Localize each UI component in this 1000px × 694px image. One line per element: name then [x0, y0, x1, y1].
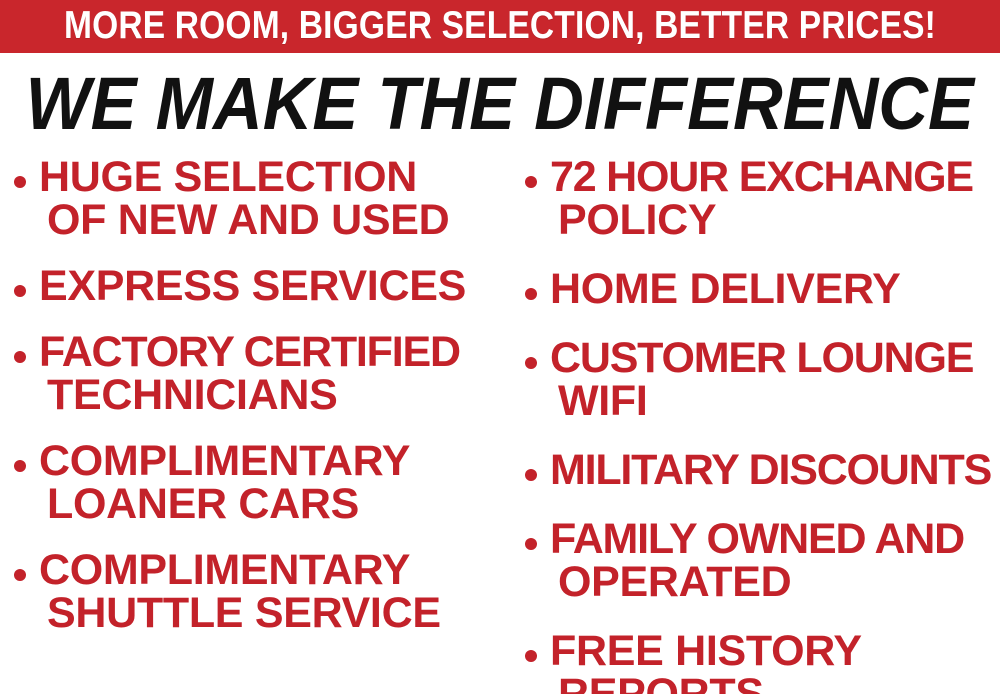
bullet-dot-icon [525, 538, 537, 550]
list-item-label: COMPLIMENTARY SHUTTLE SERVICE [39, 549, 441, 635]
benefits-column-left: HUGE SELECTION OF NEW AND USED EXPRESS S… [0, 156, 505, 635]
bullet-dot-icon [525, 469, 537, 481]
headline: WE MAKE THE DIFFERENCE [0, 60, 1000, 148]
list-item-line1: COMPLIMENTARY [39, 546, 410, 594]
list-item-label: FAMILY OWNED AND OPERATED [550, 518, 964, 604]
list-item: COMPLIMENTARY SHUTTLE SERVICE [14, 549, 505, 635]
bullet-dot-icon [14, 351, 26, 363]
list-item-line1: EXPRESS SERVICES [39, 262, 466, 310]
list-item-line2: OPERATED [550, 561, 964, 604]
list-item-line2: POLICY [550, 199, 973, 242]
list-item-label: MILITARY DISCOUNTS [550, 449, 991, 492]
benefits-columns: HUGE SELECTION OF NEW AND USED EXPRESS S… [0, 156, 1000, 694]
list-item-line2: LOANER CARS [39, 483, 410, 526]
bullet-dot-icon [14, 285, 26, 297]
list-item: CUSTOMER LOUNGE WIFI [525, 337, 1000, 423]
bullet-dot-icon [525, 288, 537, 300]
bullet-dot-icon [525, 176, 537, 188]
list-item: FREE HISTORY REPORTS [525, 630, 1000, 694]
list-item-line2: OF NEW AND USED [39, 199, 449, 242]
list-item: EXPRESS SERVICES [14, 265, 505, 308]
list-item-label: 72 HOUR EXCHANGE POLICY [550, 156, 973, 242]
list-item-line2: WIFI [550, 380, 973, 423]
bullet-dot-icon [525, 650, 537, 662]
list-item-label: HOME DELIVERY [550, 268, 901, 311]
list-item: 72 HOUR EXCHANGE POLICY [525, 156, 1000, 242]
headline-text: WE MAKE THE DIFFERENCE [26, 67, 974, 141]
bullet-dot-icon [14, 569, 26, 581]
list-item-line1: MILITARY DISCOUNTS [550, 446, 991, 494]
list-item: COMPLIMENTARY LOANER CARS [14, 440, 505, 526]
top-promo-banner: MORE ROOM, BIGGER SELECTION, BETTER PRIC… [0, 0, 1000, 53]
list-item-line1: FACTORY CERTIFIED [39, 328, 460, 376]
list-item-label: FACTORY CERTIFIED TECHNICIANS [39, 331, 460, 417]
list-item-line1: COMPLIMENTARY [39, 437, 410, 485]
list-item-line1: HOME DELIVERY [550, 265, 901, 313]
list-item-line2: REPORTS [550, 673, 862, 694]
list-item-line1: HUGE SELECTION [39, 153, 417, 201]
list-item: HOME DELIVERY [525, 268, 1000, 311]
advertisement-banner: MORE ROOM, BIGGER SELECTION, BETTER PRIC… [0, 0, 1000, 694]
benefits-column-right: 72 HOUR EXCHANGE POLICY HOME DELIVERY CU… [505, 156, 1000, 694]
list-item-line1: CUSTOMER LOUNGE [550, 334, 973, 382]
list-item-label: FREE HISTORY REPORTS [550, 630, 862, 694]
top-promo-banner-text: MORE ROOM, BIGGER SELECTION, BETTER PRIC… [64, 6, 936, 47]
list-item-label: HUGE SELECTION OF NEW AND USED [39, 156, 449, 242]
bullet-dot-icon [525, 357, 537, 369]
bullet-dot-icon [14, 460, 26, 472]
list-item-label: EXPRESS SERVICES [39, 265, 466, 308]
list-item-line1: FREE HISTORY [550, 627, 862, 675]
bullet-dot-icon [14, 176, 26, 188]
list-item: FACTORY CERTIFIED TECHNICIANS [14, 331, 505, 417]
list-item-line1: 72 HOUR EXCHANGE [550, 153, 973, 201]
list-item-line1: FAMILY OWNED AND [550, 515, 964, 563]
list-item-label: CUSTOMER LOUNGE WIFI [550, 337, 973, 423]
list-item: HUGE SELECTION OF NEW AND USED [14, 156, 505, 242]
list-item: MILITARY DISCOUNTS [525, 449, 1000, 492]
list-item: FAMILY OWNED AND OPERATED [525, 518, 1000, 604]
list-item-label: COMPLIMENTARY LOANER CARS [39, 440, 410, 526]
list-item-line2: SHUTTLE SERVICE [39, 592, 441, 635]
list-item-line2: TECHNICIANS [39, 374, 460, 417]
